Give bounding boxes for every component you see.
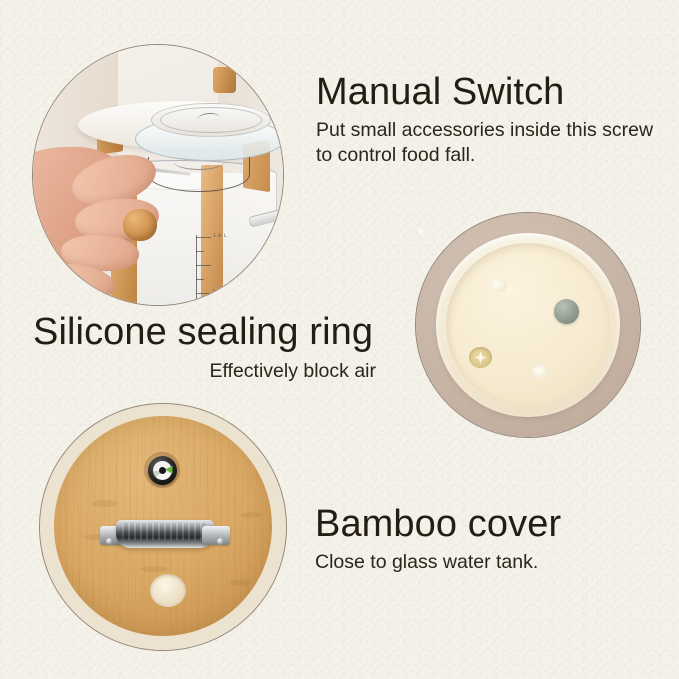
feature-description-line: Put small accessories inside this screw <box>316 118 668 143</box>
wooden-screw-knob <box>123 209 157 241</box>
sealing-ring-dimple <box>532 365 548 379</box>
feature-text-silicone-sealing-ring: Silicone sealing ring Effectively block … <box>33 313 378 384</box>
scale-label: 0.8 L <box>213 290 227 295</box>
sealing-ring-star-hole <box>469 347 492 368</box>
feature-title-silicone-sealing-ring: Silicone sealing ring <box>33 313 378 352</box>
feature-description-bamboo-cover: Close to glass water tank. <box>315 550 561 575</box>
handle-screw <box>217 538 224 545</box>
bamboo-grain-node <box>230 580 250 586</box>
bamboo-grain-node <box>92 500 118 507</box>
handle-screw <box>106 538 113 545</box>
silicone-sealing-ring-photo <box>416 213 640 437</box>
sealing-ring-face <box>446 243 610 407</box>
hygrometer-gauge-icon <box>148 456 177 485</box>
feature-title-manual-switch: Manual Switch <box>316 73 668 112</box>
feature-text-bamboo-cover: Bamboo cover Close to glass water tank. <box>315 505 561 575</box>
feature-description-manual-switch: Put small accessories inside this screw … <box>316 118 668 168</box>
feature-text-manual-switch: Manual Switch Put small accessories insi… <box>316 73 668 168</box>
handle-mount-plate <box>202 526 230 545</box>
metal-handle <box>100 520 230 550</box>
sealing-ring-valve <box>554 299 579 324</box>
hand-holding-screw-knob-photo: 1.6 L 0.8 L <box>33 45 283 305</box>
scale-label: 1.6 L <box>213 234 227 239</box>
bamboo-cover-photo <box>40 404 286 650</box>
gauge-recess <box>144 452 180 488</box>
handle-grip <box>116 520 214 548</box>
gauge-hub <box>159 467 166 474</box>
feature-description-line: to control food fall. <box>316 143 668 168</box>
infographic-page: 1.6 L 0.8 L <box>0 0 679 679</box>
feature-title-bamboo-cover: Bamboo cover <box>315 505 561 544</box>
sealing-ring-dimple <box>490 279 507 292</box>
hand <box>33 143 207 305</box>
bamboo-grain-node <box>140 566 168 572</box>
bamboo-wood-surface <box>54 416 272 636</box>
feature-description-silicone-sealing-ring: Effectively block air <box>33 359 378 384</box>
bamboo-grain-node <box>240 512 262 518</box>
rubber-foot <box>150 574 186 607</box>
bamboo-knob-top <box>213 67 236 93</box>
